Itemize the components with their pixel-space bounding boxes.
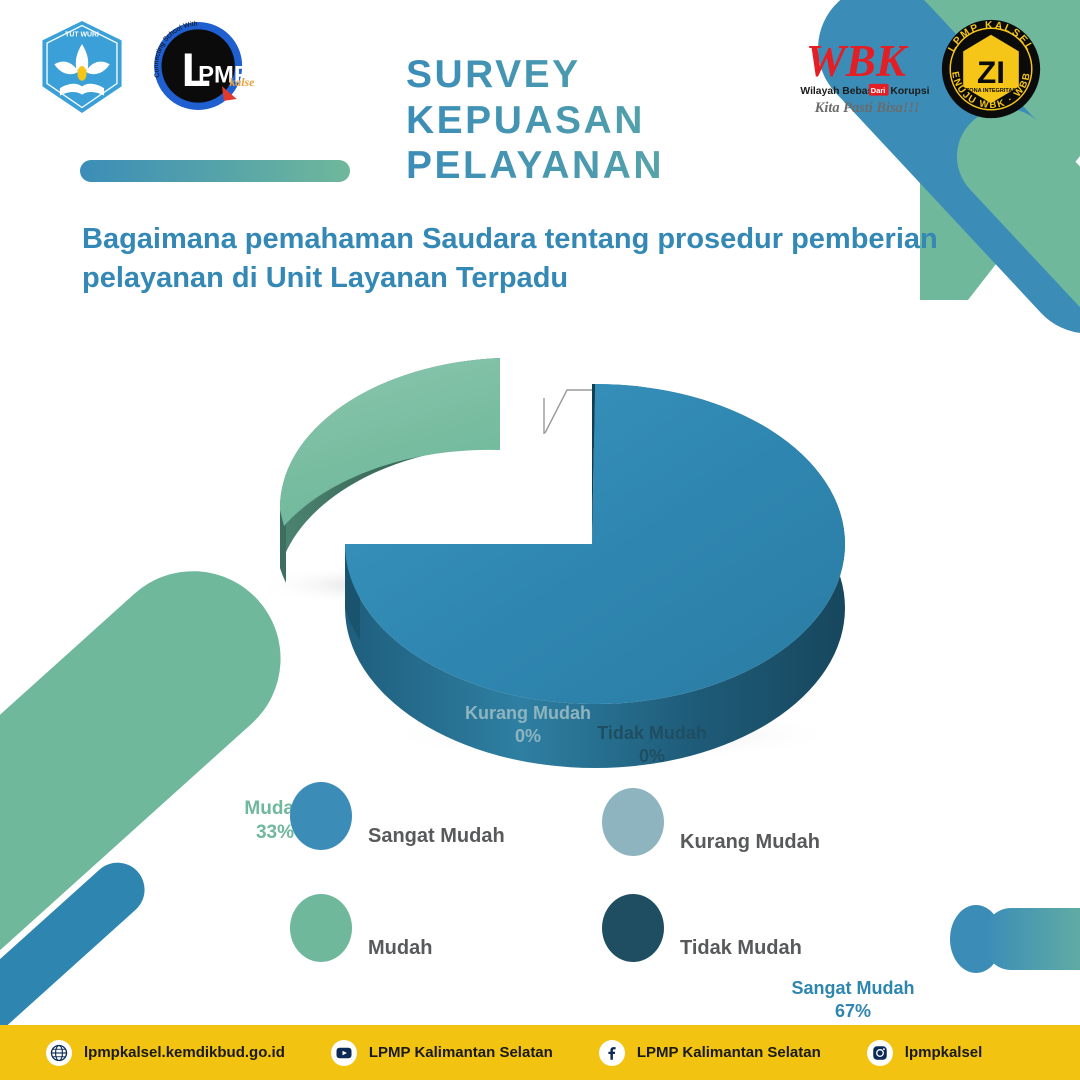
pie-chart: Kurang Mudah 0% Tidak Mudah 0% Mudah 33%… bbox=[0, 340, 1080, 770]
chart-legend: Sangat Mudah Kurang Mudah Mudah Tidak Mu… bbox=[290, 782, 910, 992]
tut-wuri-handayani-logo: TUT WURI bbox=[36, 18, 128, 116]
lpmp-kalsel-logo: L PMP kalsel Connecting School With Qual… bbox=[145, 18, 255, 114]
footer-item-website[interactable]: lpmpkalsel.kemdikbud.go.id bbox=[46, 1040, 285, 1066]
youtube-icon bbox=[331, 1040, 357, 1066]
legend-label-tidak-mudah: Tidak Mudah bbox=[680, 937, 802, 960]
pie-label-tidak-mudah-value: 0% bbox=[572, 745, 732, 768]
legend-swatch-icon-tidak-mudah bbox=[602, 894, 664, 962]
footer-item-instagram[interactable]: lpmpkalsel bbox=[867, 1040, 983, 1066]
svg-text:ZONA INTEGRITAS: ZONA INTEGRITAS bbox=[966, 88, 1017, 94]
legend-item-kurang-mudah: Kurang Mudah bbox=[602, 788, 820, 856]
legend-item-tidak-mudah: Tidak Mudah bbox=[602, 894, 802, 962]
svg-text:ZI: ZI bbox=[977, 54, 1005, 90]
footer-text-instagram: lpmpkalsel bbox=[905, 1044, 983, 1061]
legend-item-sangat-mudah: Sangat Mudah bbox=[290, 782, 505, 850]
footer-text-youtube: LPMP Kalimantan Selatan bbox=[369, 1044, 553, 1061]
question-subtitle: Bagaimana pemahaman Saudara tentang pros… bbox=[82, 220, 942, 297]
header-accent-pill bbox=[80, 160, 350, 182]
footer-text-facebook: LPMP Kalimantan Selatan bbox=[637, 1044, 821, 1061]
instagram-icon bbox=[867, 1040, 893, 1066]
footer-item-youtube[interactable]: LPMP Kalimantan Selatan bbox=[331, 1040, 553, 1066]
svg-text:TUT WURI: TUT WURI bbox=[65, 32, 99, 39]
decorative-blue-ellipse-bottom-right bbox=[950, 905, 1002, 973]
pie-label-tidak-mudah-name: Tidak Mudah bbox=[597, 723, 707, 743]
footer-item-facebook[interactable]: LPMP Kalimantan Selatan bbox=[599, 1040, 821, 1066]
legend-label-sangat-mudah: Sangat Mudah bbox=[368, 825, 505, 848]
svg-text:Korupsi: Korupsi bbox=[890, 86, 929, 97]
legend-swatch-icon-mudah bbox=[290, 894, 352, 962]
footer-text-website: lpmpkalsel.kemdikbud.go.id bbox=[84, 1044, 285, 1061]
footer-contact-bar: lpmpkalsel.kemdikbud.go.id LPMP Kalimant… bbox=[0, 1025, 1080, 1080]
title-line-3: PELAYANAN bbox=[406, 143, 826, 189]
legend-swatch-icon-kurang-mudah bbox=[602, 788, 664, 856]
pie-label-sangat-mudah-value: 67% bbox=[758, 1000, 948, 1023]
legend-item-mudah: Mudah bbox=[290, 894, 432, 962]
svg-text:kalsel: kalsel bbox=[229, 75, 255, 89]
infographic-canvas: TUT WURI L PMP kalsel Connecting School … bbox=[0, 0, 1080, 1080]
zona-integritas-badge: ZI ZONA INTEGRITAS LPMP KALSEL MENUJU WB… bbox=[940, 18, 1042, 120]
legend-swatch-icon-sangat-mudah bbox=[290, 782, 352, 850]
leader-line-tidak-mudah bbox=[545, 390, 592, 433]
pie-label-tidak-mudah: Tidak Mudah 0% bbox=[572, 722, 732, 767]
page-title: SURVEY KEPUASAN PELAYANAN bbox=[406, 52, 826, 189]
svg-text:Kita Pasti Bisa!!!: Kita Pasti Bisa!!! bbox=[814, 100, 920, 116]
facebook-icon bbox=[599, 1040, 625, 1066]
legend-label-kurang-mudah: Kurang Mudah bbox=[680, 831, 820, 854]
title-line-1: SURVEY bbox=[406, 52, 826, 98]
decorative-gradient-pill-bottom-right bbox=[985, 908, 1080, 970]
svg-text:Dari: Dari bbox=[871, 86, 886, 95]
globe-icon bbox=[46, 1040, 72, 1066]
legend-label-mudah: Mudah bbox=[368, 937, 432, 960]
title-line-2: KEPUASAN bbox=[406, 98, 826, 144]
pie-label-kurang-mudah-name: Kurang Mudah bbox=[465, 703, 591, 723]
